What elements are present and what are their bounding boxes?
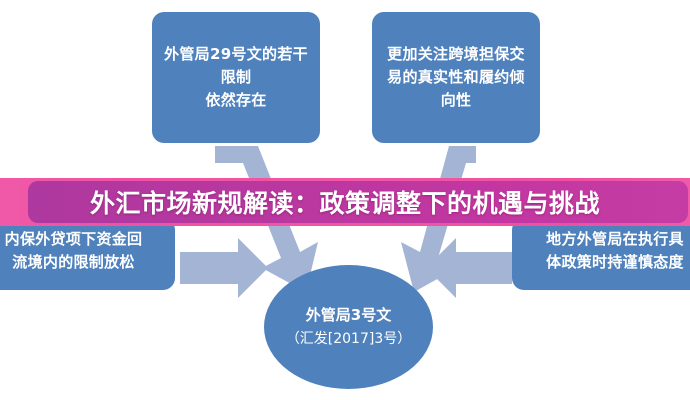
node-right[interactable]: 地方外管局在执行具 体政策时持谨慎态度 <box>512 218 690 290</box>
node-left[interactable]: 内保外贷项下资金回 流境内的限制放松 <box>0 218 175 290</box>
node-top-left-label: 外管局29号文的若干 限制 依然存在 <box>164 43 308 113</box>
diagram-canvas: 外管局29号文的若干 限制 依然存在 更加关注跨境担保交 易的真实性和履约倾 向… <box>0 0 690 400</box>
node-center-title: 外管局3号文 <box>306 304 391 327</box>
node-top-left[interactable]: 外管局29号文的若干 限制 依然存在 <box>152 12 320 143</box>
node-top-right[interactable]: 更加关注跨境担保交 易的真实性和履约倾 向性 <box>372 12 540 143</box>
node-right-label: 地方外管局在执行具 体政策时持谨慎态度 <box>524 228 690 275</box>
node-top-right-label: 更加关注跨境担保交 易的真实性和履约倾 向性 <box>384 43 528 113</box>
arrow-left-to-center-icon <box>180 238 268 298</box>
node-left-label: 内保外贷项下资金回 流境内的限制放松 <box>0 228 163 275</box>
page-title: 外汇市场新规解读：政策调整下的机遇与挑战 <box>0 178 690 226</box>
node-center[interactable]: 外管局3号文 （汇发[2017]3号） <box>264 265 433 389</box>
node-center-subtitle: （汇发[2017]3号） <box>286 329 411 350</box>
